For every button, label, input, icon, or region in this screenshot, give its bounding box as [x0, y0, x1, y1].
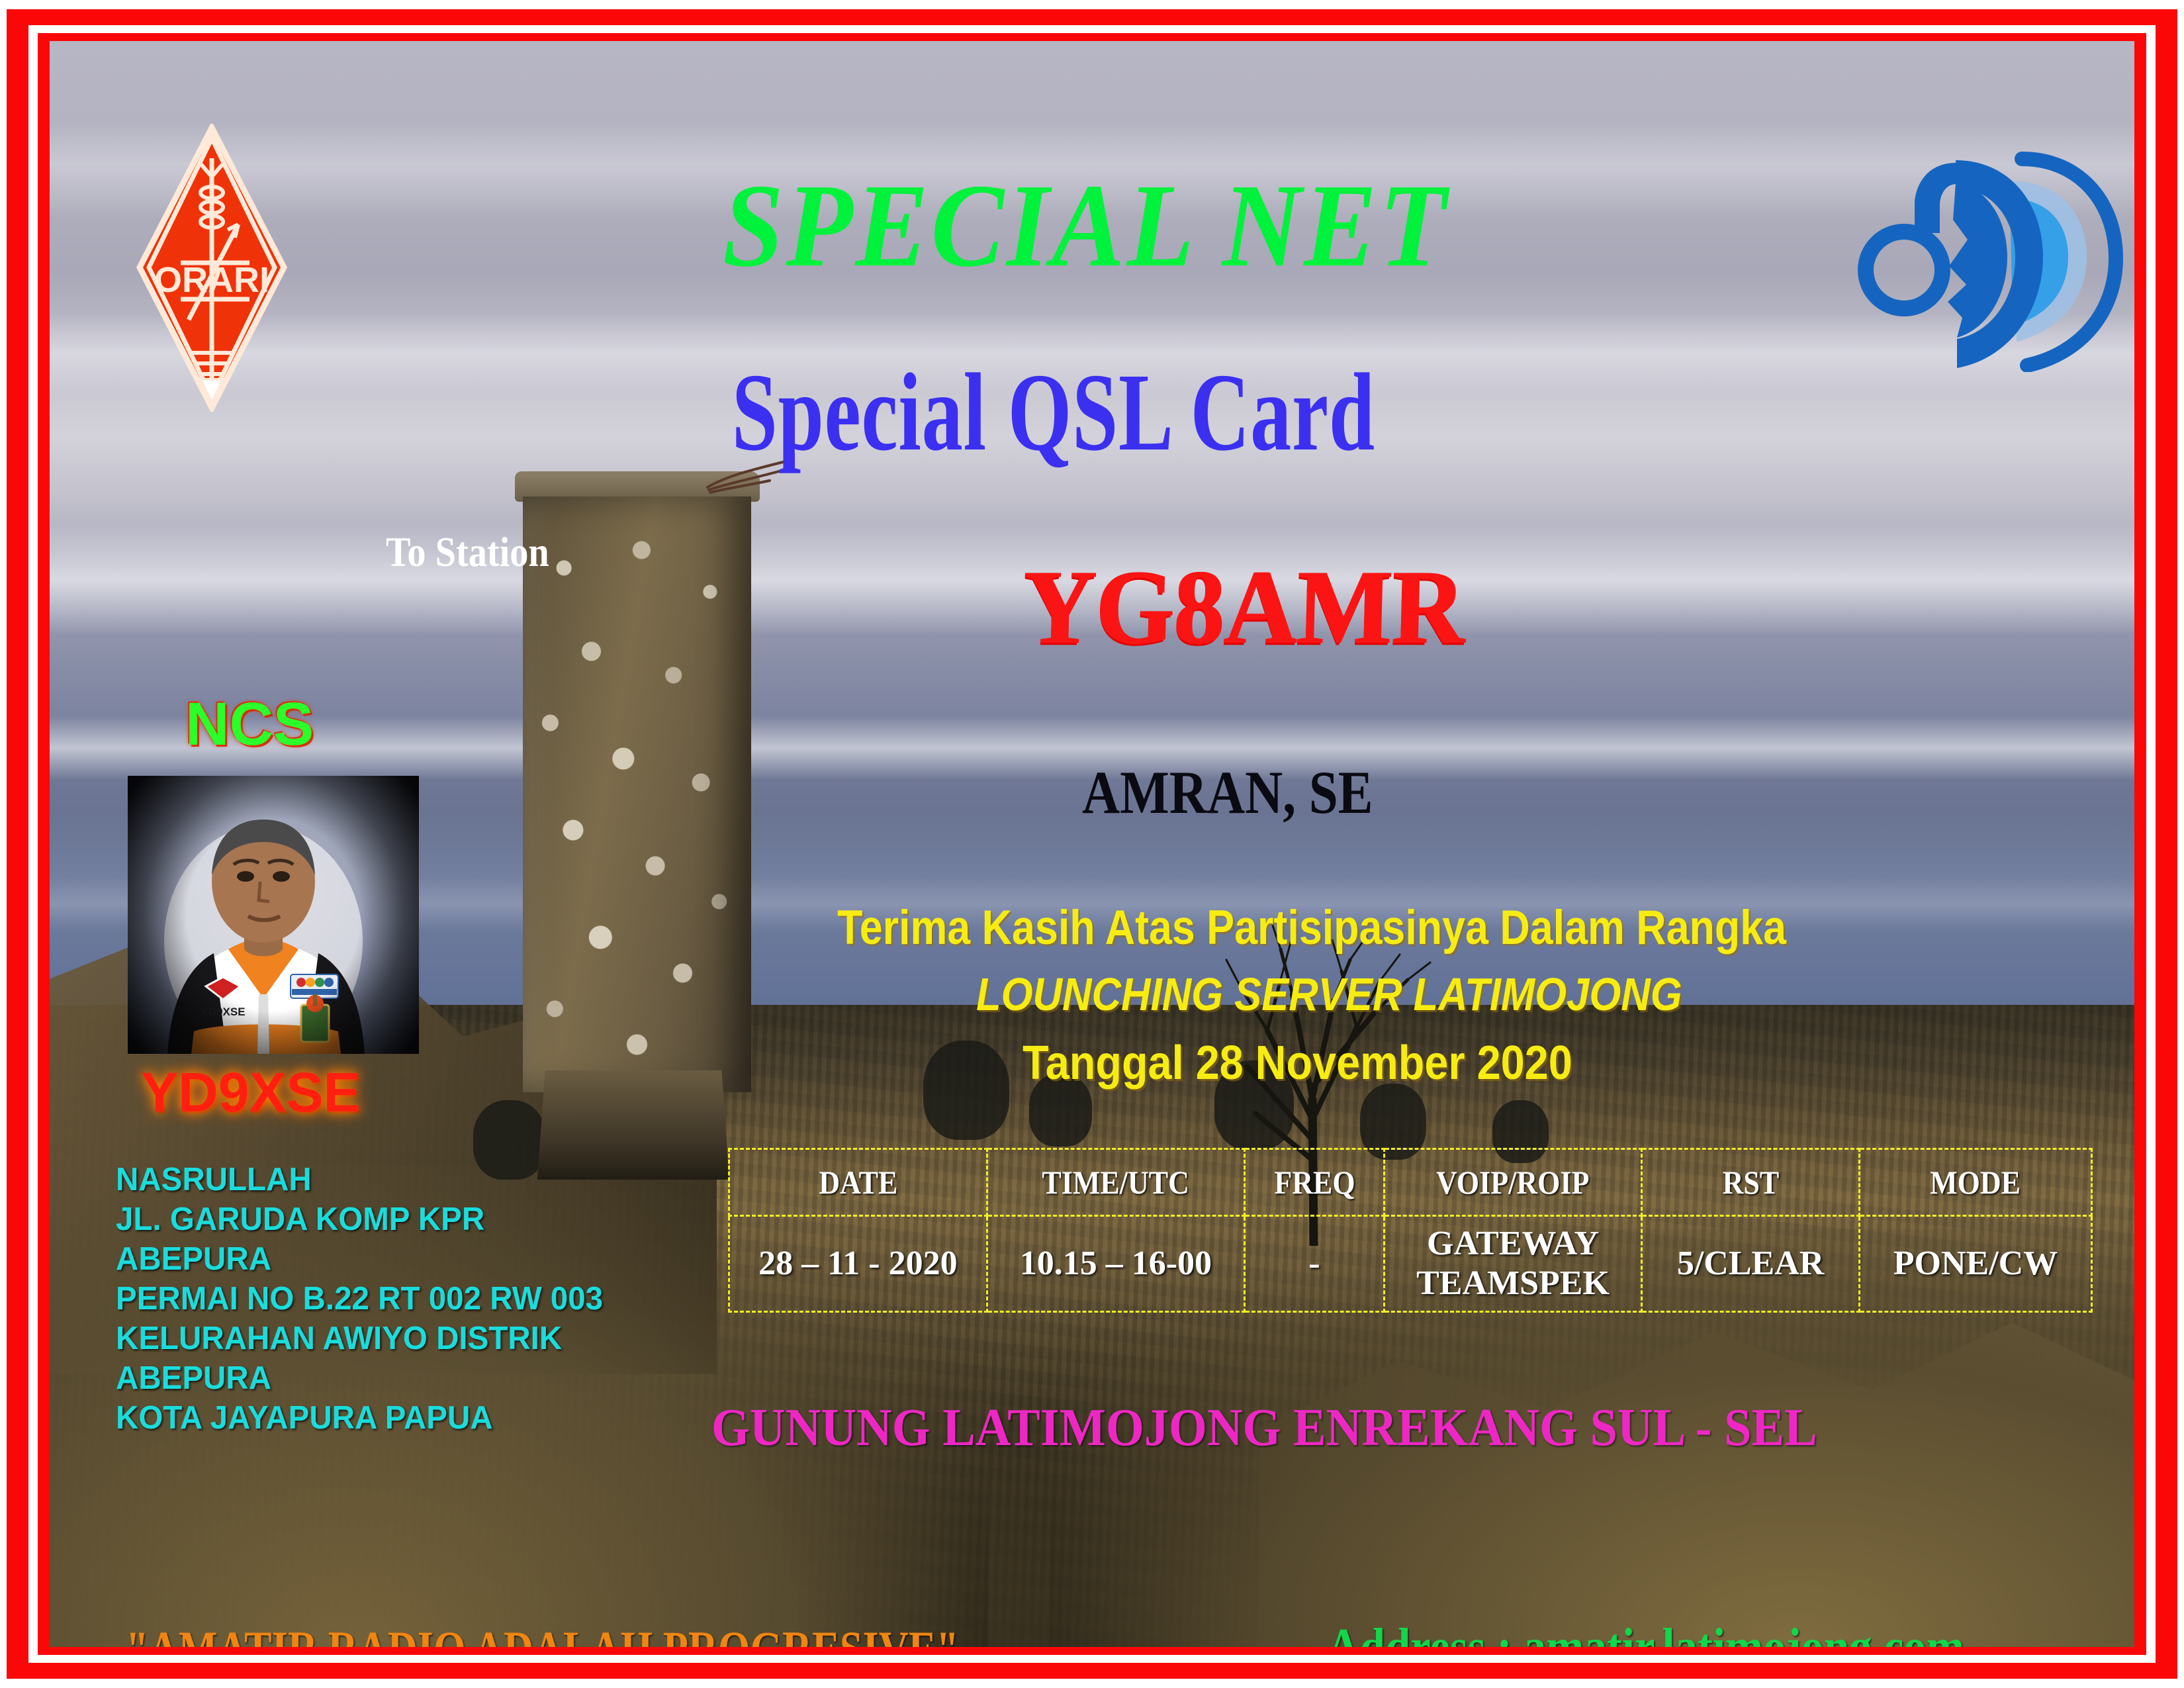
location-line: GUNUNG LATIMOJONG ENREKANG SUL - SEL — [711, 1398, 1817, 1458]
qso-log-table: DATE TIME/UTC FREQ VOIP/ROIP RST MODE 28… — [728, 1148, 2093, 1313]
table-header-row: DATE TIME/UTC FREQ VOIP/ROIP RST MODE — [729, 1149, 2092, 1216]
station-callsign: YG8AMR — [1021, 546, 1466, 668]
address-line: NASRULLAH — [116, 1160, 603, 1199]
cell-mode: PONE/CW — [1859, 1216, 2091, 1312]
photo-vignette — [128, 776, 419, 1054]
thanks-line-2-event: LOUNCHING SERVER LATIMOJONG — [976, 968, 1682, 1021]
col-header-rst: RST — [1655, 1149, 1846, 1216]
ncs-operator-photo: YD9XSE — [128, 776, 419, 1054]
address-line: ABEPURA — [116, 1358, 603, 1398]
stone-cairn-monument — [523, 471, 751, 1173]
ncs-label: NCS — [185, 690, 314, 759]
page-subtitle-qsl-card: Special QSL Card — [246, 349, 1862, 477]
address-line: PERMAI NO B.22 RT 002 RW 003 — [116, 1279, 603, 1319]
address-line: KELURAHAN AWIYO DISTRIK — [116, 1319, 603, 1358]
col-header-time: TIME/UTC — [1003, 1149, 1230, 1216]
station-operator-name: AMRAN, SE — [1082, 757, 1373, 827]
page-title-special-net: SPECIAL NET — [81, 157, 2090, 294]
thanks-line-3-date: Tanggal 28 November 2020 — [1023, 1036, 1572, 1090]
cell-voip-line1: GATEWAY — [1386, 1224, 1640, 1264]
col-header-freq: FREQ — [1253, 1149, 1376, 1216]
bush-silhouette — [923, 1041, 1009, 1140]
cell-voip: GATEWAY TEAMSPEK — [1384, 1216, 1641, 1312]
cell-date: 28 – 11 - 2020 — [729, 1216, 987, 1312]
cell-freq: - — [1245, 1216, 1385, 1312]
cell-voip-line2: TEAMSPEK — [1386, 1264, 1640, 1303]
col-header-date: DATE — [745, 1149, 972, 1216]
website-address-line: Address : amatir.latimojong.com — [1327, 1618, 1964, 1647]
table-row: 28 – 11 - 2020 10.15 – 16-00 - GATEWAY T… — [729, 1216, 2092, 1312]
slogan-text: "AMATIR RADIO ADALAH PROGRESIVE" — [126, 1620, 959, 1647]
col-header-mode: MODE — [1874, 1149, 2078, 1216]
cell-time: 10.15 – 16-00 — [987, 1216, 1244, 1312]
cell-rst: 5/CLEAR — [1642, 1216, 1860, 1312]
thanks-line-1: Terima Kasih Atas Partisipasinya Dalam R… — [837, 900, 1786, 955]
address-line: ABEPURA — [116, 1239, 603, 1279]
qsl-card: ORARI SPECIAL NET Special QSL Card To St… — [0, 0, 2184, 1688]
background-photo: ORARI SPECIAL NET Special QSL Card To St… — [50, 41, 2134, 1647]
col-header-voip: VOIP/ROIP — [1400, 1149, 1627, 1216]
address-line: KOTA JAYAPURA PAPUA — [116, 1398, 603, 1438]
to-station-label: To Station — [386, 528, 549, 577]
address-line: JL. GARUDA KOMP KPR — [116, 1199, 603, 1239]
operator-address: NASRULLAH JL. GARUDA KOMP KPR ABEPURA PE… — [116, 1160, 618, 1438]
cairn-body — [523, 496, 751, 1092]
ncs-callsign: YD9XSE — [141, 1060, 361, 1125]
